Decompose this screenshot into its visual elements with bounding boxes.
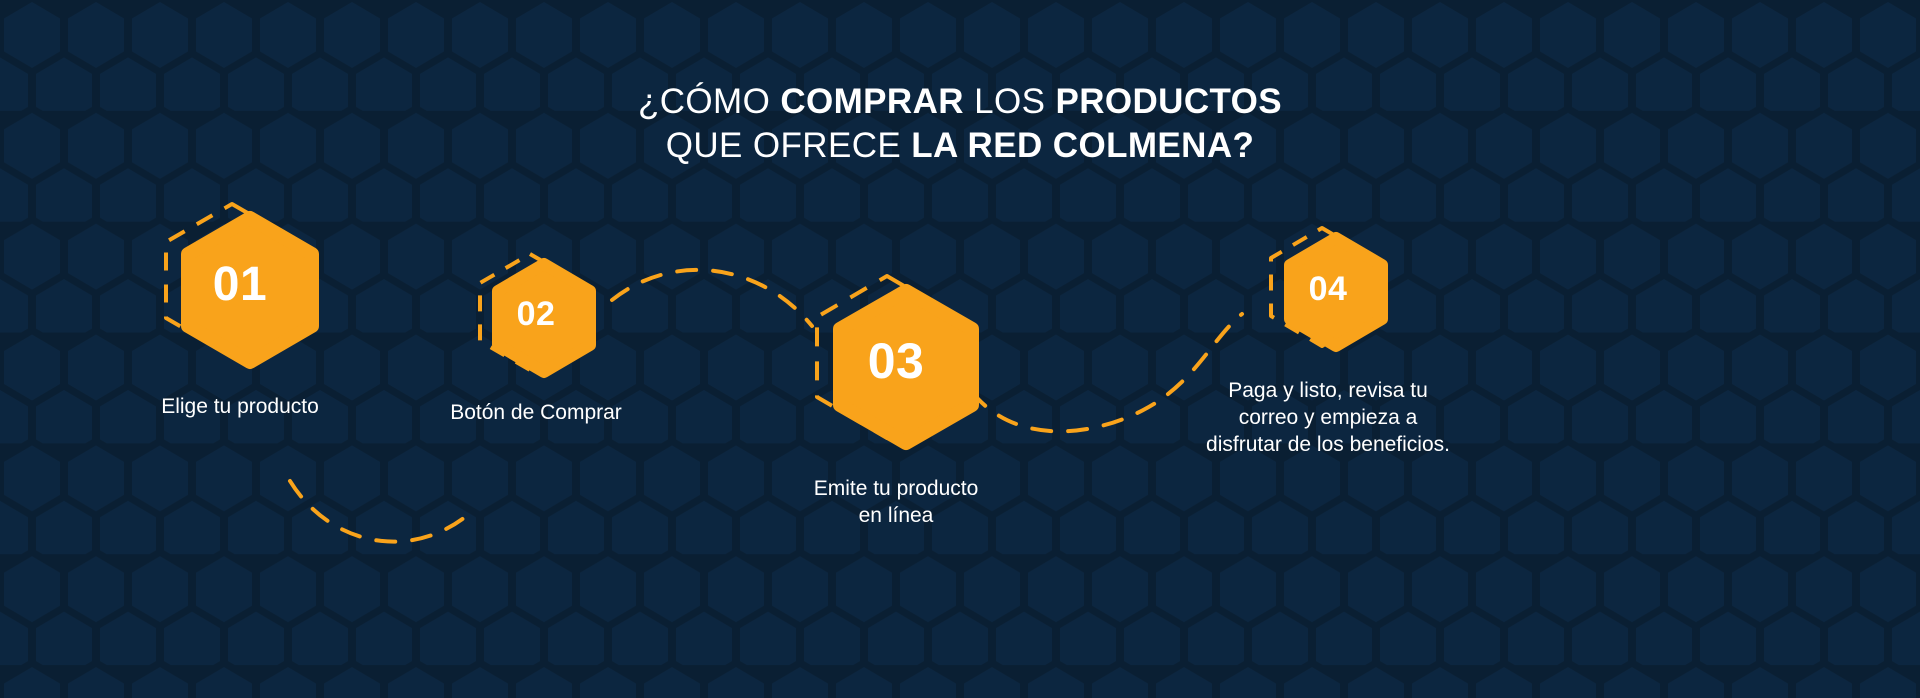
title-part: ¿CÓMO xyxy=(638,82,780,121)
page-title-line-2: QUE OFRECE LA RED COLMENA? xyxy=(0,124,1920,168)
title-part-bold: LA RED COLMENA? xyxy=(911,126,1254,165)
page-title-line-1: ¿CÓMO COMPRAR LOS PRODUCTOS xyxy=(0,80,1920,124)
step-03-label: Emite tu producto en línea xyxy=(746,476,1046,530)
step-01[interactable]: 01 Elige tu producto xyxy=(64,196,416,421)
step-01-label: Elige tu producto xyxy=(64,394,416,421)
step-02-hex-fill xyxy=(498,264,590,372)
step-01-hexagon[interactable]: 01 xyxy=(152,196,328,372)
step-04-hex-fill xyxy=(1290,238,1382,346)
step-02-label: Botón de Comprar xyxy=(396,400,676,427)
step-02-hexagon[interactable]: 02 xyxy=(470,248,602,380)
title-part-bold: COMPRAR xyxy=(780,82,964,121)
infographic-canvas: ¿CÓMO COMPRAR LOS PRODUCTOS QUE OFRECE L… xyxy=(0,0,1920,698)
title-part-bold: PRODUCTOS xyxy=(1055,82,1282,121)
step-03-hexagon[interactable]: 03 xyxy=(803,268,989,454)
step-03-hex-fill xyxy=(840,291,972,443)
step-01-hex-fill xyxy=(188,218,312,362)
page-title: ¿CÓMO COMPRAR LOS PRODUCTOS QUE OFRECE L… xyxy=(0,80,1920,168)
step-04-hexagon[interactable]: 04 xyxy=(1261,222,1395,356)
title-part: LOS xyxy=(964,82,1055,121)
step-02[interactable]: 02 Botón de Comprar xyxy=(396,248,676,427)
step-03[interactable]: 03 Emite tu producto en línea xyxy=(746,268,1046,530)
title-part: QUE OFRECE xyxy=(666,126,912,165)
step-04-label: Paga y listo, revisa tu correo y empieza… xyxy=(1128,378,1528,459)
step-04[interactable]: 04 Paga y listo, revisa tu correo y empi… xyxy=(1128,222,1528,459)
connector-01-to-02 xyxy=(290,481,470,542)
